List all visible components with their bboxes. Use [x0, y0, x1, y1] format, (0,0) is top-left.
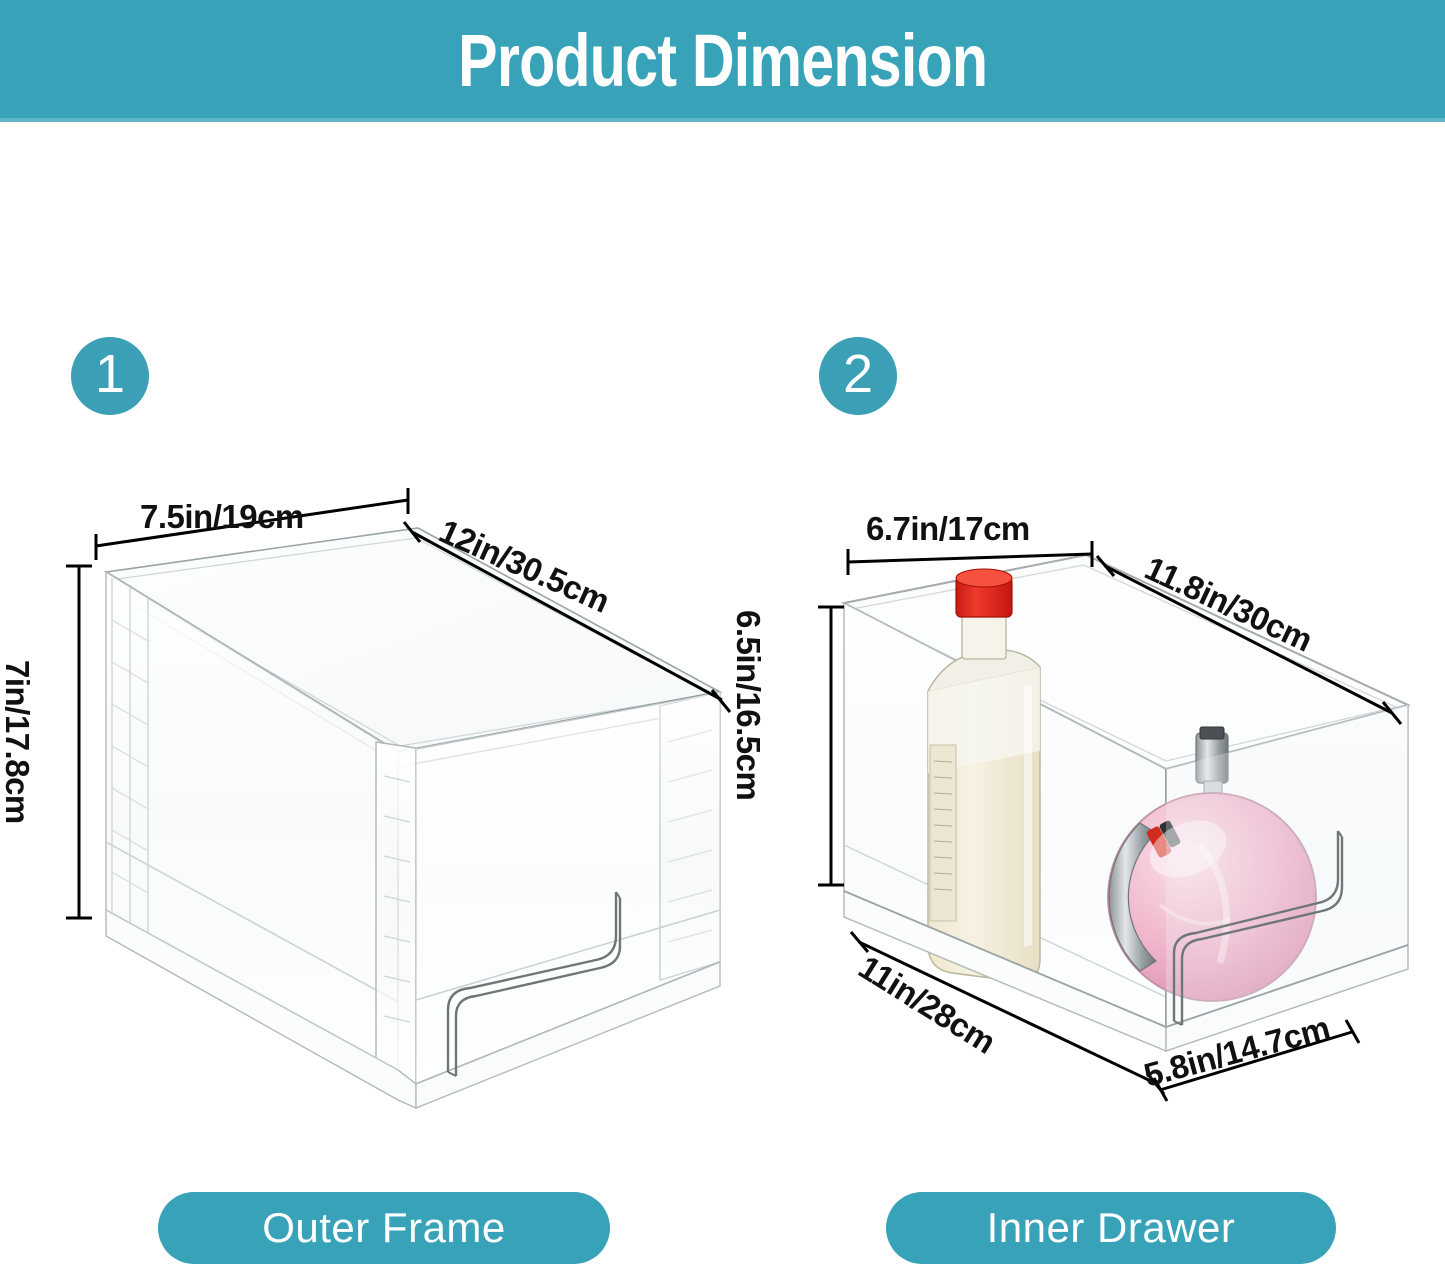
caption-pill-outer-frame: Outer Frame: [158, 1192, 610, 1264]
caption-outer-frame-label: Outer Frame: [262, 1204, 506, 1252]
header-band: Product Dimension: [0, 0, 1445, 122]
step-badge-2: 2: [819, 337, 897, 415]
inner-drawer-illustration: [800, 545, 1440, 1105]
step-badge-1: 1: [71, 337, 149, 415]
step-badge-1-label: 1: [95, 347, 125, 401]
outer-frame-center-post: [376, 742, 416, 1084]
step-badge-2-label: 2: [843, 347, 873, 401]
dimension-label-inner-height: 6.5in/16.5cm: [729, 610, 767, 800]
outer-frame-illustration: [60, 510, 750, 1120]
caption-pill-inner-drawer: Inner Drawer: [886, 1192, 1336, 1264]
dimension-label-outer-width: 7.5in/19cm: [140, 498, 304, 536]
caption-inner-drawer-label: Inner Drawer: [987, 1204, 1236, 1252]
dimension-label-outer-height: 7in/17.8cm: [0, 660, 36, 824]
dimension-label-inner-width: 6.7in/17cm: [866, 510, 1030, 548]
page-title: Product Dimension: [458, 24, 987, 98]
